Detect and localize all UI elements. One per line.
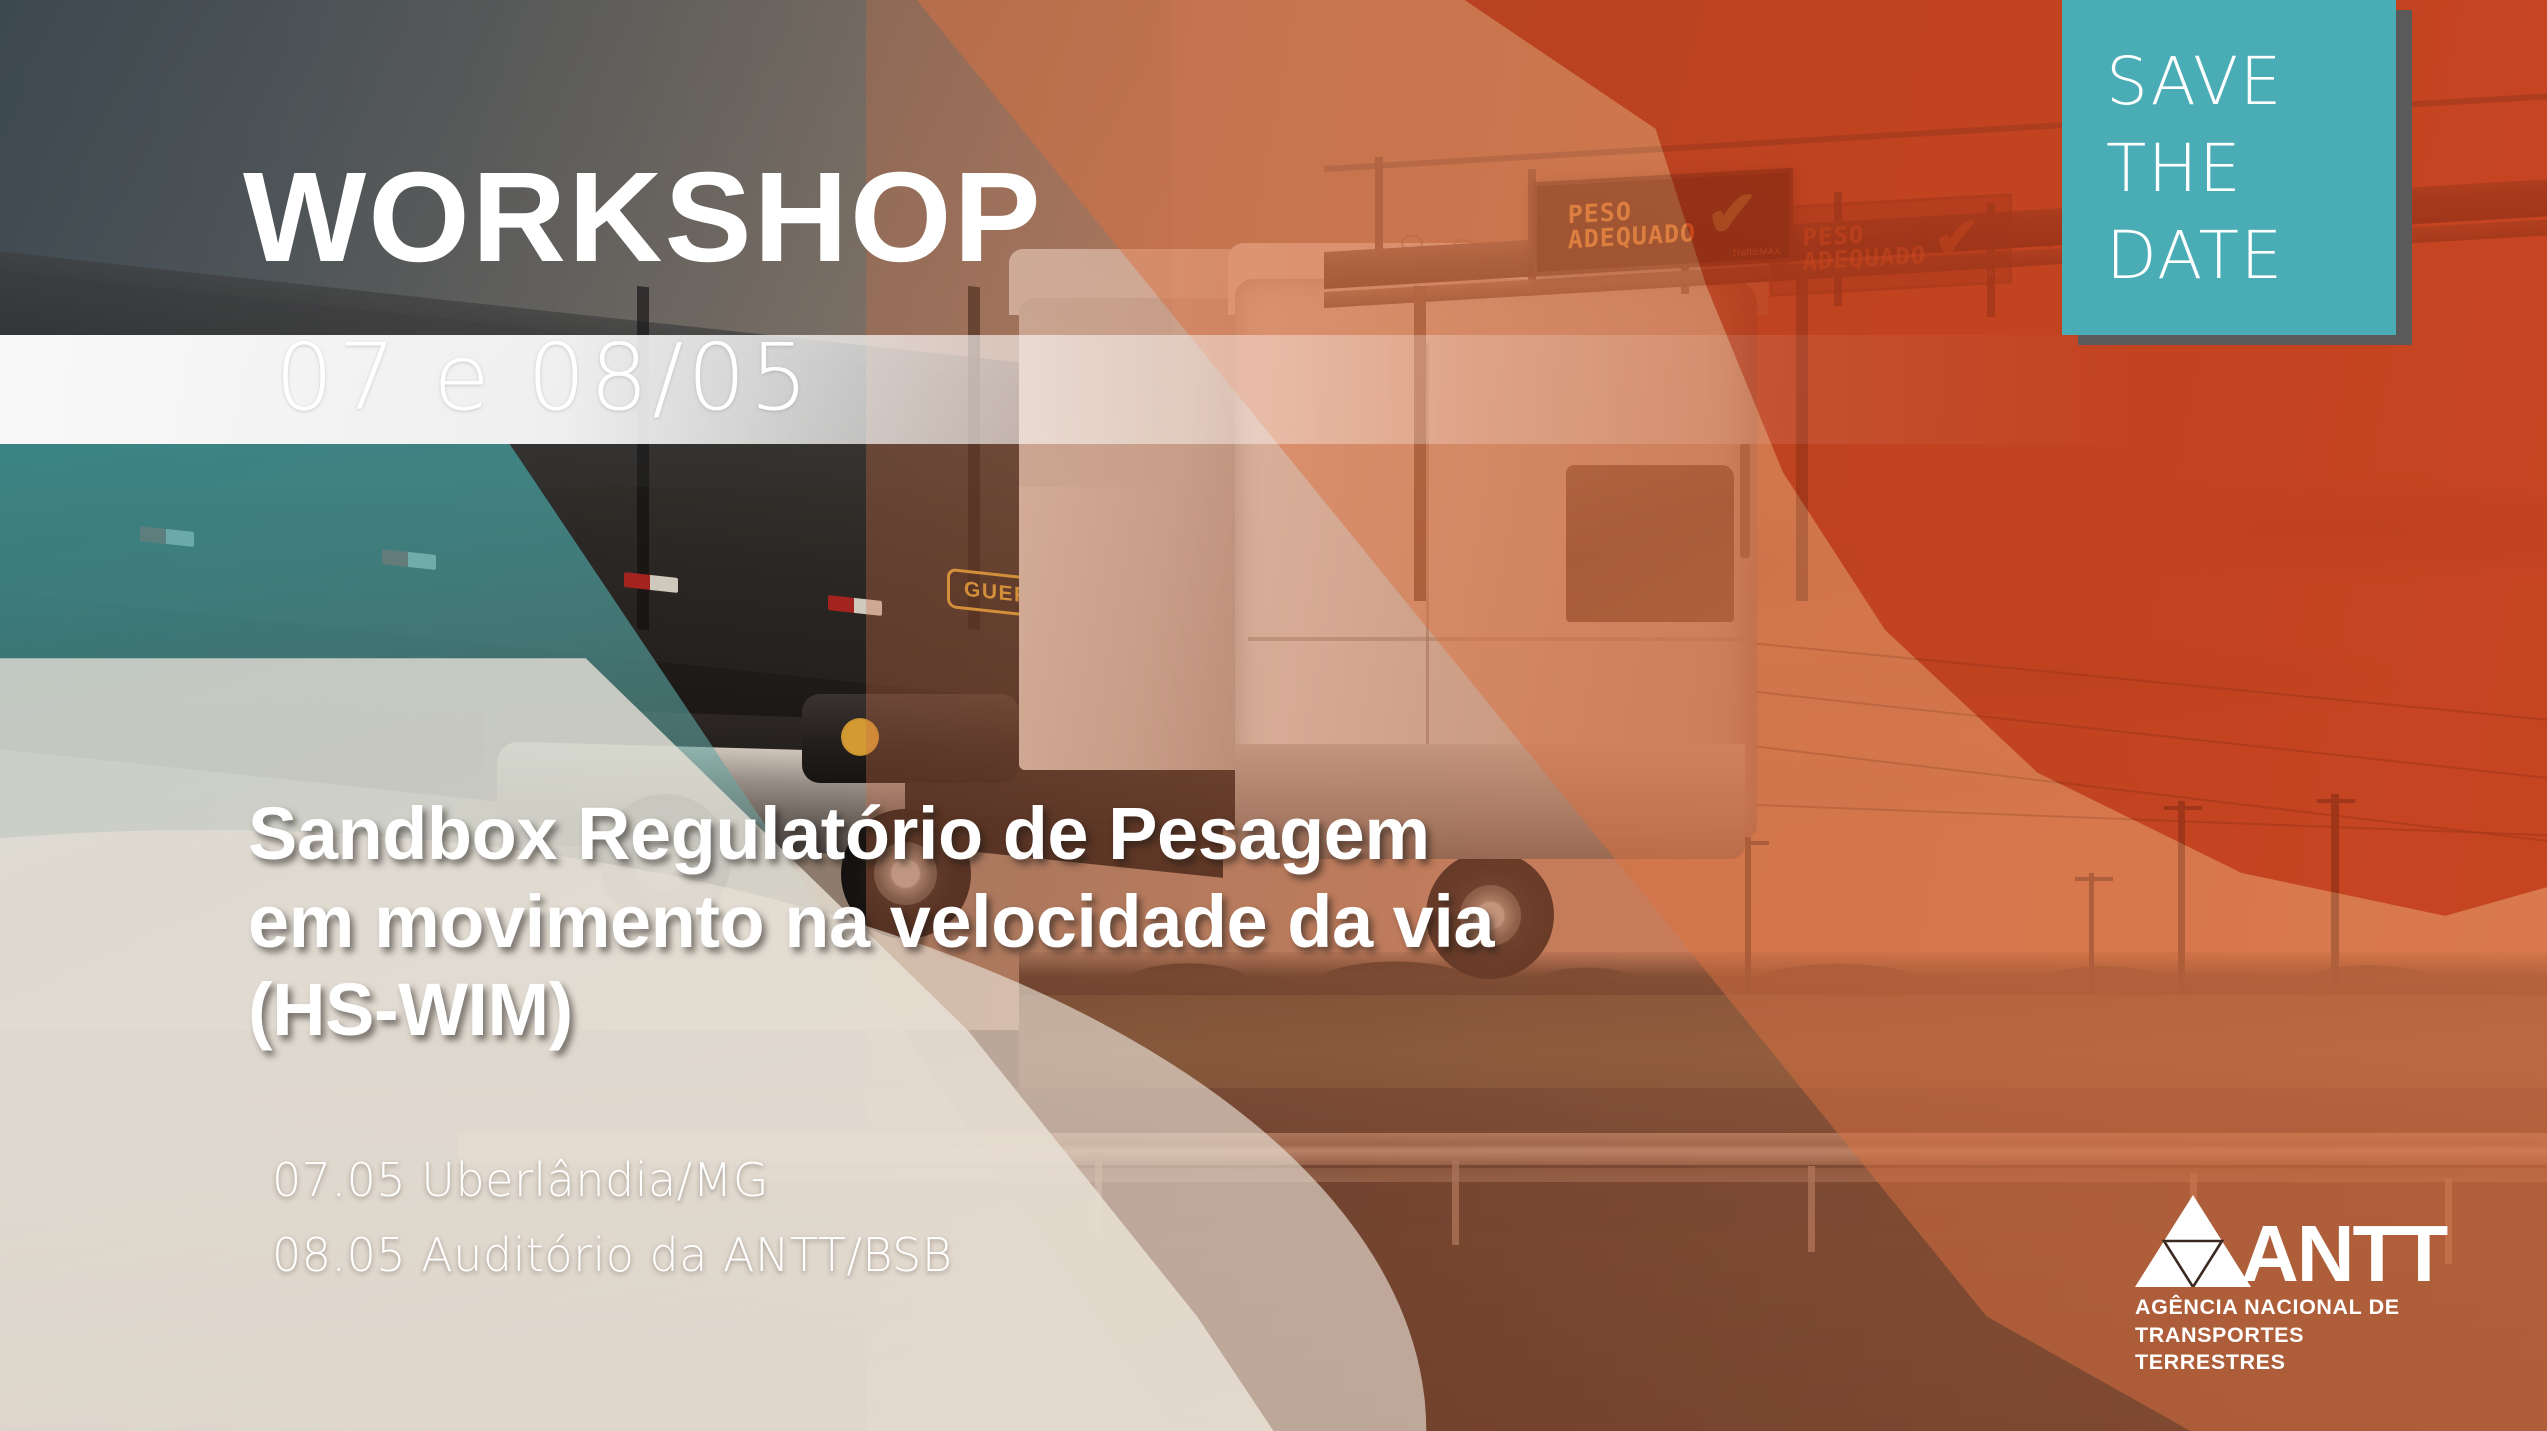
- antt-logo-subtitle-line1: AGÊNCIA NACIONAL DE: [2135, 1294, 2455, 1322]
- antt-logo-subtitle: AGÊNCIA NACIONAL DE TRANSPORTES TERRESTR…: [2135, 1294, 2455, 1377]
- venue-item: 07.05 Uberlândia/MG: [272, 1143, 952, 1218]
- poster-content: WORKSHOP 07 e 08/05 Sandbox Regulatório …: [0, 0, 2547, 1431]
- event-dateline: 07 e 08/05: [275, 332, 812, 424]
- page-title: WORKSHOP: [243, 154, 1043, 282]
- save-the-date-line3: DATE: [2106, 212, 2396, 299]
- venue-list: 07.05 Uberlândia/MG 08.05 Auditório da A…: [272, 1143, 952, 1292]
- antt-logo-subtitle-line2: TRANSPORTES TERRESTRES: [2135, 1322, 2455, 1377]
- poster-root: GUERRA: [0, 0, 2547, 1431]
- save-the-date-badge: SAVE THE DATE: [2062, 0, 2396, 335]
- save-the-date-line2: THE: [2106, 125, 2396, 212]
- venue-item: 08.05 Auditório da ANTT/BSB: [272, 1218, 952, 1293]
- event-headline: Sandbox Regulatório de Pesagem em movime…: [248, 790, 1538, 1054]
- antt-triangle-icon: [2135, 1195, 2251, 1287]
- antt-logo-top: ANTT: [2135, 1195, 2455, 1287]
- antt-logo: ANTT AGÊNCIA NACIONAL DE TRANSPORTES TER…: [2135, 1195, 2455, 1377]
- save-the-date-line1: SAVE: [2106, 38, 2396, 125]
- antt-wordmark: ANTT: [2241, 1221, 2446, 1287]
